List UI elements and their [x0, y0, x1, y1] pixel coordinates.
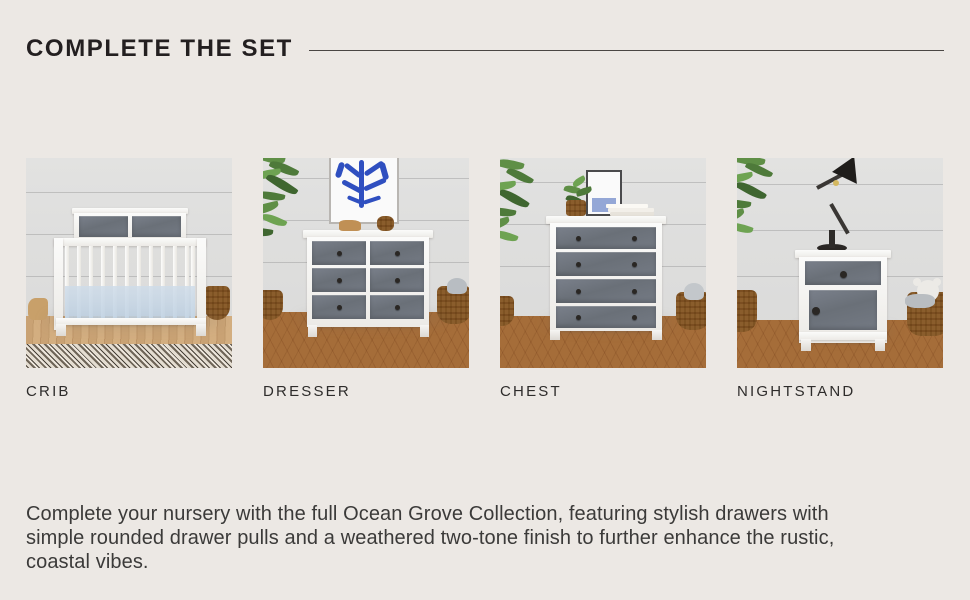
product-card-row: CRIB [26, 158, 944, 399]
product-image-nightstand[interactable] [737, 158, 943, 368]
plush-toy [447, 278, 467, 294]
plush-toy [684, 283, 704, 300]
product-image-dresser[interactable] [263, 158, 469, 368]
product-label-dresser: DRESSER [263, 384, 469, 399]
product-card-dresser[interactable]: DRESSER [263, 158, 469, 399]
wooden-toy [28, 298, 48, 320]
section-header: COMPLETE THE SET [26, 32, 944, 66]
crib-mattress [65, 286, 195, 318]
section-description: Complete your nursery with the full Ocea… [26, 502, 842, 574]
product-card-crib[interactable]: CRIB [26, 158, 232, 399]
complete-the-set-section: COMPLETE THE SET [0, 0, 970, 600]
patterned-rug [26, 344, 232, 368]
potted-plant [737, 158, 787, 276]
product-label-nightstand: NIGHTSTAND [737, 384, 943, 399]
wooden-dog-figurine [339, 220, 361, 231]
product-image-crib[interactable] [26, 158, 232, 368]
plant-pot [566, 200, 586, 216]
header-divider-rule [309, 50, 944, 51]
product-card-nightstand[interactable]: NIGHTSTAND [737, 158, 943, 399]
potted-plant [500, 160, 548, 280]
page-title: COMPLETE THE SET [26, 37, 293, 61]
product-label-crib: CRIB [26, 384, 232, 399]
small-woven-basket [377, 216, 394, 231]
product-label-chest: CHEST [500, 384, 706, 399]
product-image-chest[interactable] [500, 158, 706, 368]
product-card-chest[interactable]: CHEST [500, 158, 706, 399]
